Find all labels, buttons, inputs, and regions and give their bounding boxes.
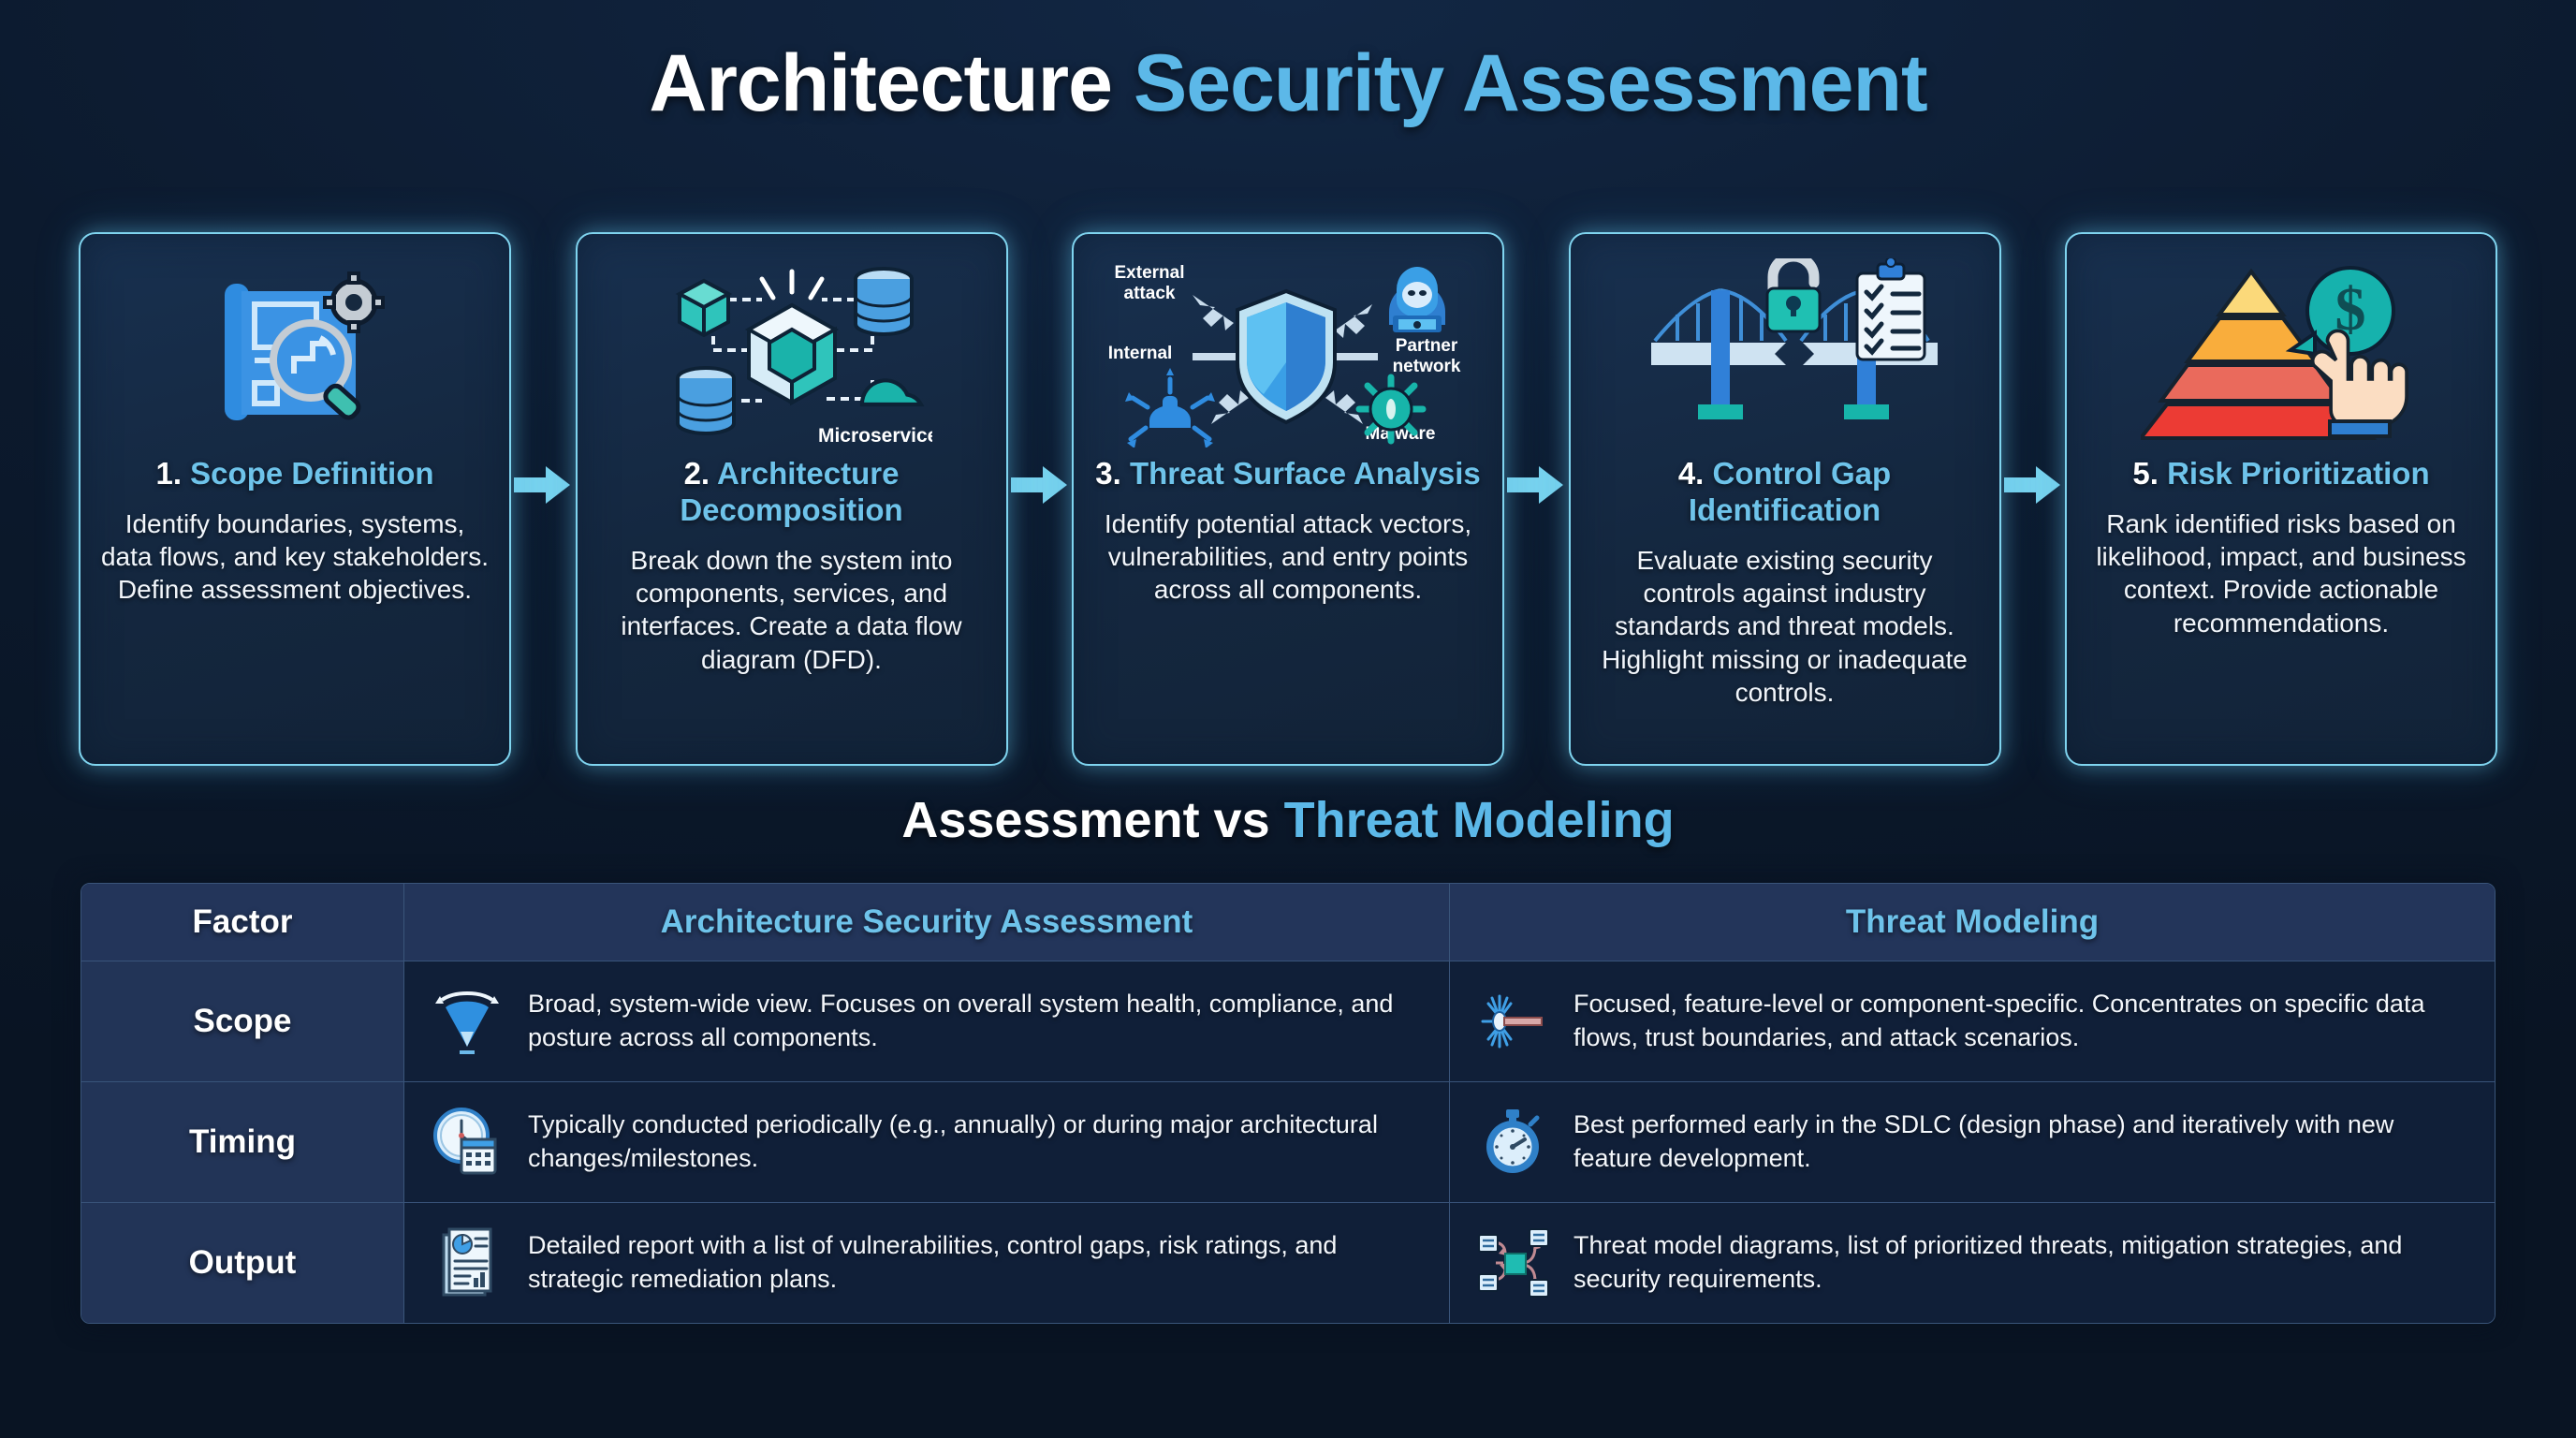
external-attack-label-2: attack — [1124, 284, 1176, 303]
comparison-table: Factor Architecture Security Assessment … — [80, 883, 2495, 1324]
cell-timing-threat-modeling: Best performed early in the SDLC (design… — [1449, 1082, 2495, 1202]
wide-cone-view-icon — [427, 985, 507, 1058]
step-description: Identify potential attack vectors, vulne… — [1089, 507, 1487, 607]
row-label-timing: Timing — [81, 1082, 404, 1202]
page-title: Architecture Security Assessment — [0, 0, 2576, 125]
step-number: 2. — [684, 456, 710, 491]
report-document-chart-icon — [427, 1225, 507, 1300]
step-name: Scope Definition — [190, 456, 433, 491]
step-description: Evaluate existing security controls agai… — [1586, 544, 1984, 709]
table-row: Output Detailed report with a list of — [81, 1202, 2495, 1323]
row-label-scope: Scope — [81, 961, 404, 1081]
flow-arrow-4 — [2001, 232, 2066, 506]
table-row: Scope Broad, system-wide view. Focuses o… — [81, 961, 2495, 1081]
step-card-scope-definition[interactable]: 1. Scope Definition Identify boundaries,… — [79, 232, 511, 766]
flow-arrow-1 — [511, 232, 576, 506]
step-card-title: 4. Control Gap Identification — [1586, 456, 1984, 529]
step-card-title: 3. Threat Surface Analysis — [1095, 456, 1480, 492]
microservices-label: Microservices — [817, 425, 931, 446]
step-name: Architecture Decomposition — [680, 456, 902, 527]
comparison-heading: Assessment vs Threat Modeling — [0, 791, 2576, 849]
partner-network-label-1: Partner — [1396, 336, 1458, 356]
step-number: 5. — [2132, 456, 2159, 491]
step-name: Risk Prioritization — [2167, 456, 2430, 491]
step-name: Threat Surface Analysis — [1130, 456, 1481, 491]
comparison-heading-part1: Assessment vs — [901, 792, 1283, 848]
blueprint-magnifier-gear-icon — [95, 251, 494, 452]
risk-pyramid-hand-dollar-icon: $ — [2082, 251, 2481, 452]
step-number: 1. — [155, 456, 182, 491]
partner-network-label-2: network — [1393, 357, 1461, 376]
step-card-architecture-decomposition[interactable]: Microservices 2. Architecture Decomposit… — [576, 232, 1008, 766]
cell-timing-assessment: Typically conducted periodically (e.g., … — [404, 1082, 1449, 1202]
external-attack-label-1: External — [1115, 263, 1185, 283]
step-card-control-gap-identification[interactable]: 4. Control Gap Identification Evaluate e… — [1569, 232, 2001, 766]
step-number: 4. — [1678, 456, 1705, 491]
cell-output-threat-modeling: Threat model diagrams, list of prioritiz… — [1449, 1203, 2495, 1323]
stopwatch-icon — [1472, 1106, 1553, 1179]
step-name: Control Gap Identification — [1689, 456, 1891, 527]
step-number: 3. — [1095, 456, 1121, 491]
cell-output-assessment: Detailed report with a list of vulnerabi… — [404, 1203, 1449, 1323]
comparison-heading-part2: Threat Modeling — [1284, 792, 1675, 848]
page-title-part2: Security Assessment — [1134, 38, 1927, 128]
table-header-assessment: Architecture Security Assessment — [404, 884, 1449, 961]
table-header-factor: Factor — [81, 884, 404, 961]
process-steps: 1. Scope Definition Identify boundaries,… — [79, 232, 2497, 766]
threat-model-diagram-icon — [1472, 1225, 1553, 1300]
shield-threat-vectors-icon: External attack Internal Partner network… — [1089, 251, 1487, 452]
cell-scope-threat-modeling: Focused, feature-level or component-spec… — [1449, 961, 2495, 1081]
table-row: Timing Typical — [81, 1081, 2495, 1202]
flow-arrow-2 — [1008, 232, 1073, 506]
clock-calendar-icon — [427, 1106, 507, 1179]
table-header-row: Factor Architecture Security Assessment … — [81, 884, 2495, 961]
cell-scope-assessment: Broad, system-wide view. Focuses on over… — [404, 961, 1449, 1081]
step-description: Identify boundaries, systems, data flows… — [95, 507, 494, 607]
row-label-output: Output — [81, 1203, 404, 1323]
step-description: Rank identified risks based on likelihoo… — [2082, 507, 2481, 639]
exploded-cube-components-icon: Microservices — [593, 251, 991, 452]
step-card-title: 2. Architecture Decomposition — [593, 456, 991, 529]
step-card-risk-prioritization[interactable]: $ 5. Risk Prioritization Rank identified… — [2065, 232, 2497, 766]
table-header-threat-modeling: Threat Modeling — [1449, 884, 2495, 961]
step-card-title: 1. Scope Definition — [155, 456, 433, 492]
laser-beam-focus-icon — [1472, 985, 1553, 1058]
flow-arrow-3 — [1504, 232, 1569, 506]
step-card-threat-surface-analysis[interactable]: External attack Internal Partner network… — [1072, 232, 1504, 766]
step-card-title: 5. Risk Prioritization — [2132, 456, 2429, 492]
page-title-part1: Architecture — [649, 38, 1134, 128]
internal-label: Internal — [1108, 344, 1173, 363]
step-description: Break down the system into components, s… — [593, 544, 991, 676]
broken-bridge-lock-checklist-icon — [1586, 251, 1984, 452]
